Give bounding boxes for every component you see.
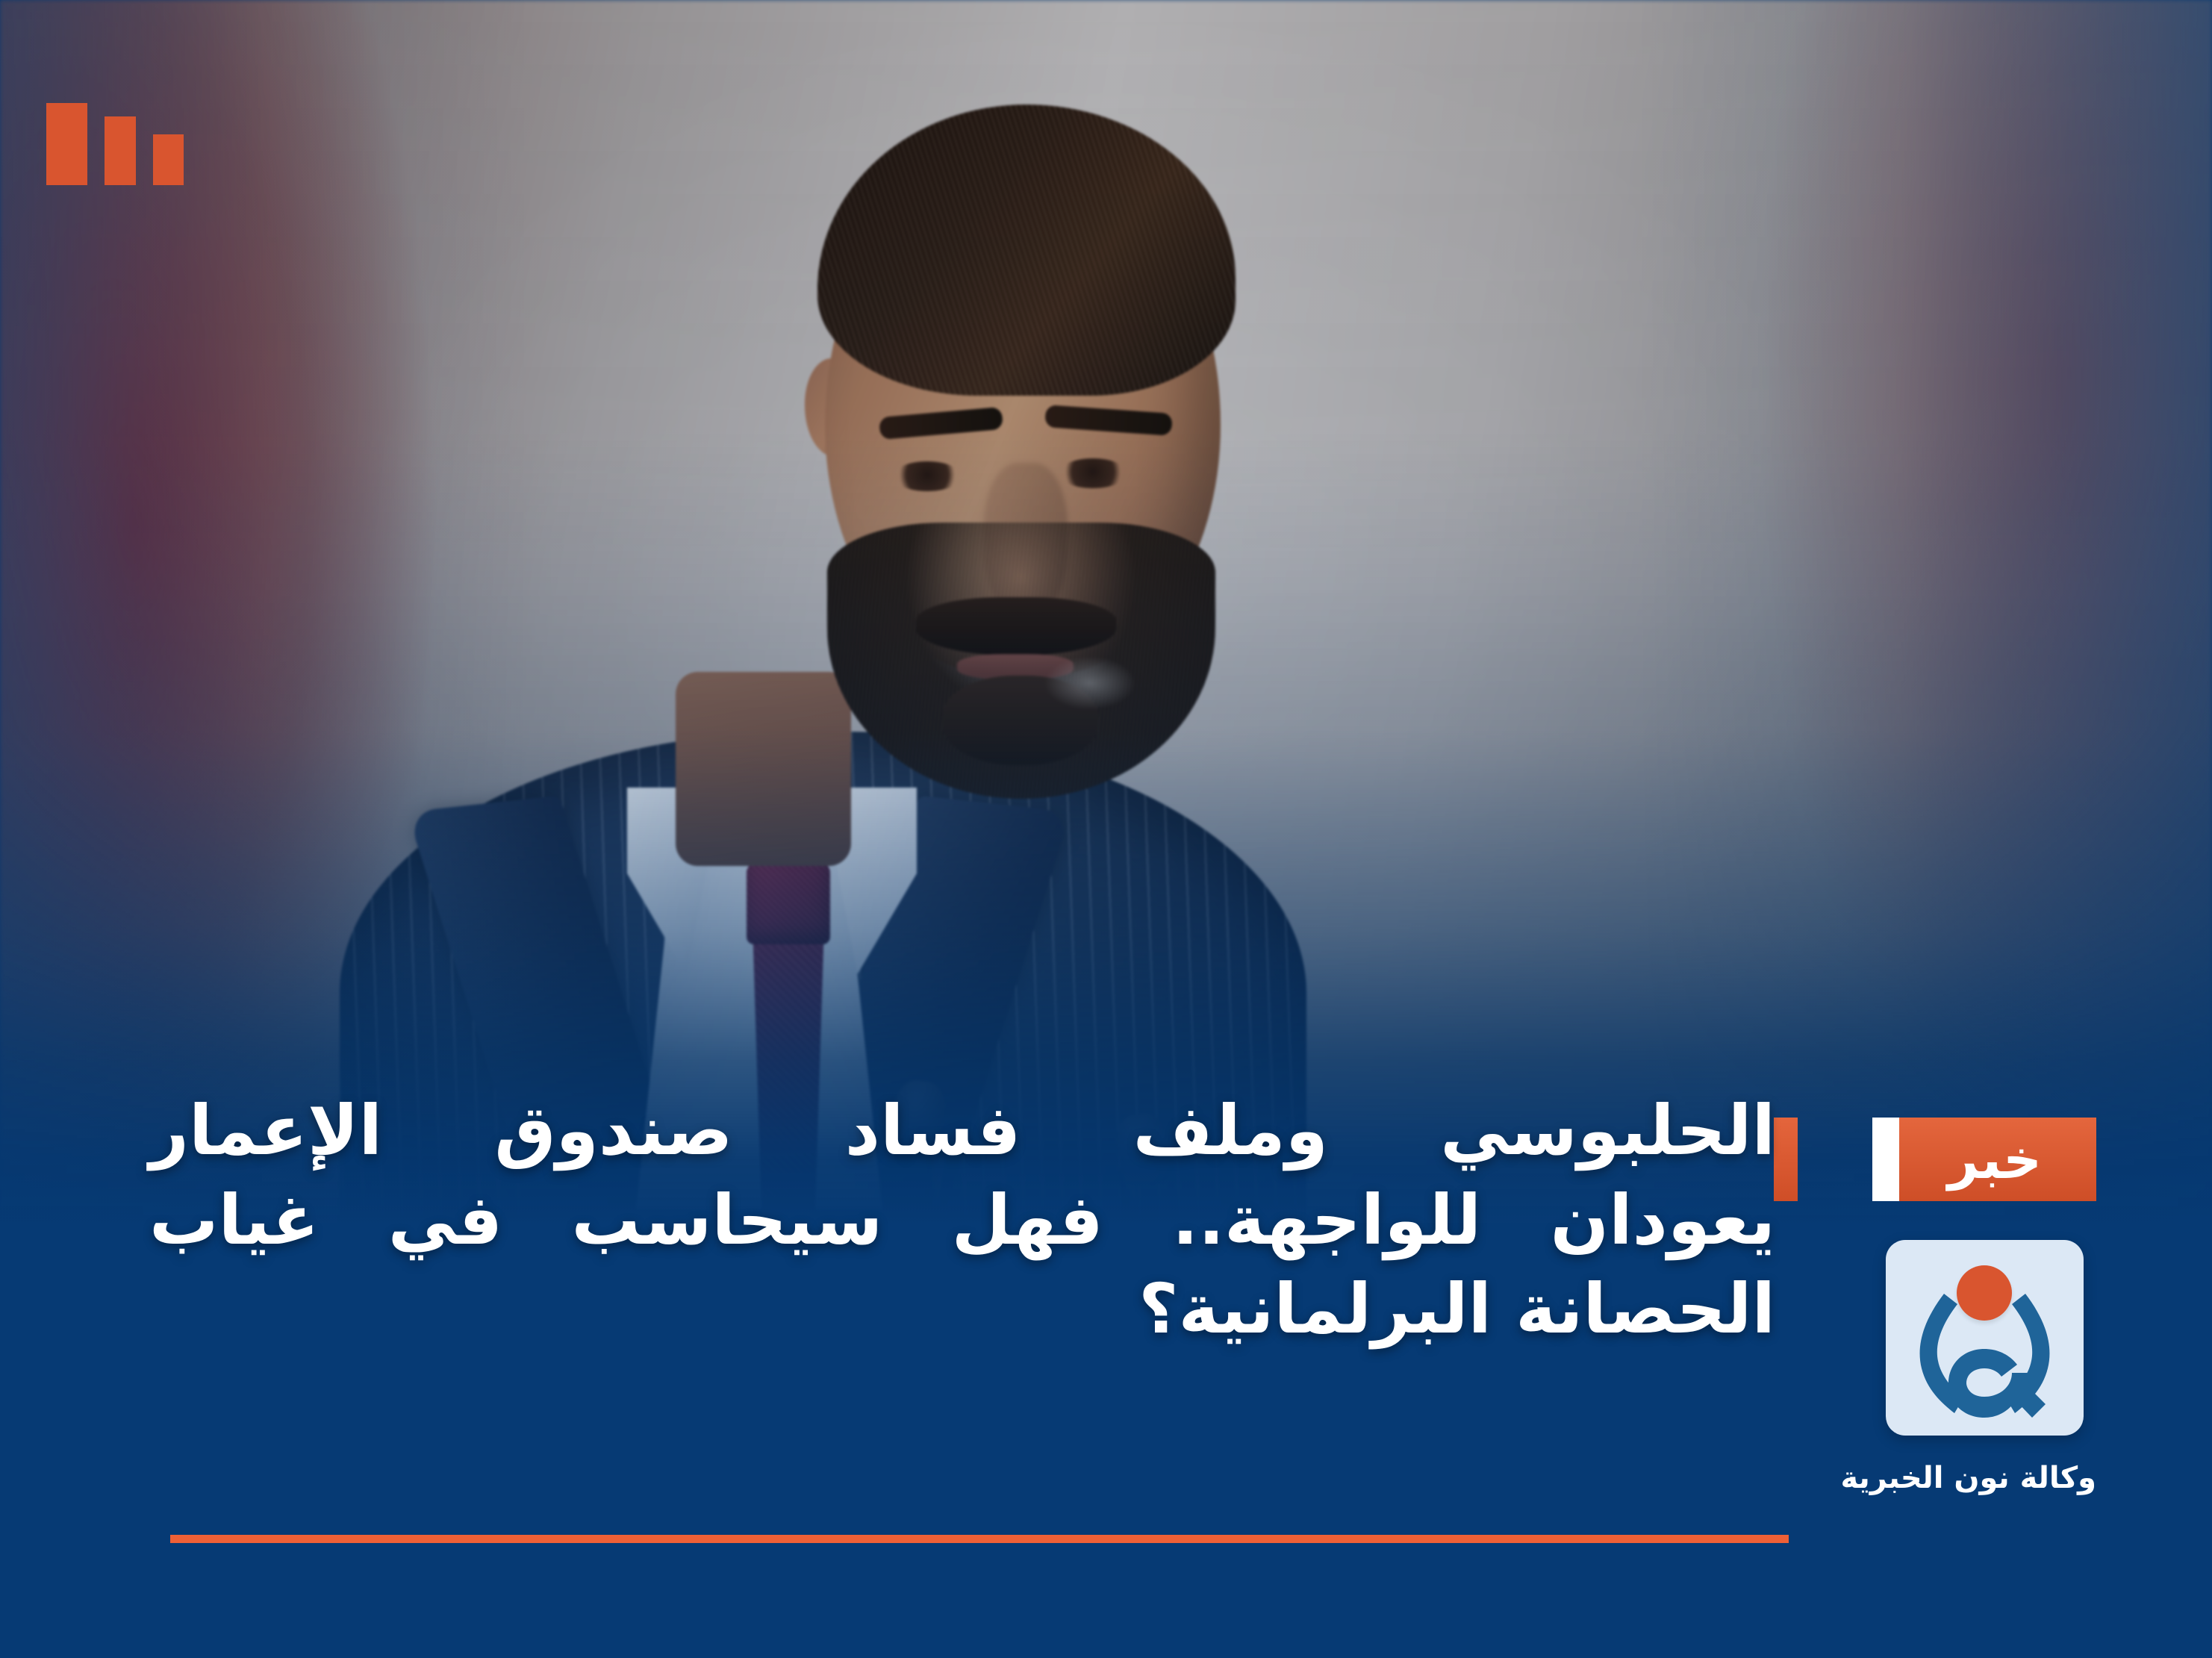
- news-card: الحلبوسي وملف فساد صندوق الإعمار يعودان …: [0, 0, 2212, 1658]
- agency-name: وكالة نون الخبرية: [1872, 1461, 2096, 1495]
- news-badge-label: خبر: [1899, 1118, 2096, 1201]
- headline-accent-bar: [1774, 1118, 1798, 1201]
- brand-column: خبر وكالة نون الخبرية: [1872, 1118, 2096, 1495]
- bar-3: [153, 134, 184, 185]
- agency-logo: [1886, 1240, 2084, 1436]
- headline-line-3: الحصانة البرلمانية؟: [149, 1265, 1775, 1354]
- bar-2: [105, 116, 136, 185]
- news-badge-white-cap: [1872, 1118, 1899, 1201]
- bottom-divider: [170, 1535, 1789, 1543]
- headline: الحلبوسي وملف فساد صندوق الإعمار يعودان …: [149, 1086, 1775, 1354]
- three-bars-icon: [46, 96, 188, 185]
- bar-1: [46, 103, 87, 185]
- headline-line-1: الحلبوسي وملف فساد صندوق الإعمار: [149, 1086, 1775, 1176]
- headline-line-2: يعودان للواجهة.. فهل سيحاسب في غياب: [149, 1176, 1775, 1265]
- logo-noon-mark-icon: [1886, 1240, 2084, 1436]
- news-badge: خبر: [1872, 1118, 2096, 1201]
